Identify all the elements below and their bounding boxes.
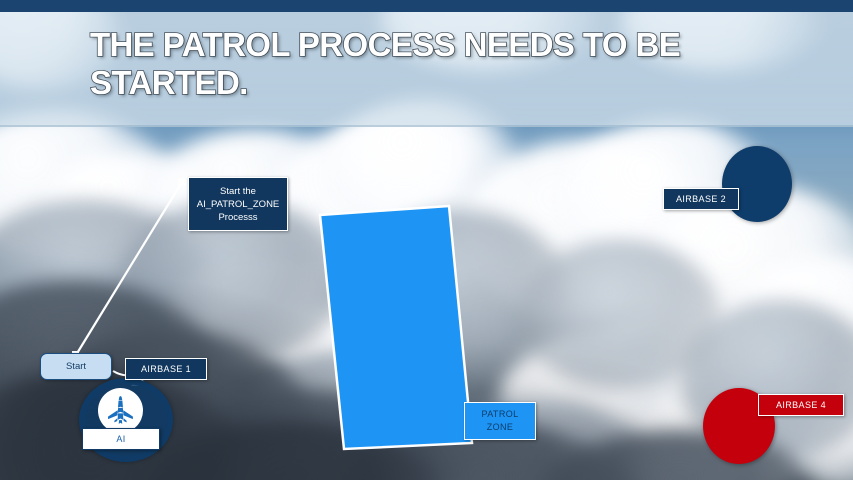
patrol-zone-label[interactable]: PATROL ZONE <box>464 402 536 440</box>
airbase2-circle[interactable] <box>722 146 792 222</box>
process-box-ai-patrol-zone[interactable]: Start the AI_PATROL_ZONE Processs <box>188 177 288 231</box>
fighter-jet-icon <box>98 388 143 433</box>
page-title: THE PATROL PROCESS NEEDS TO BE STARTED. <box>90 26 790 102</box>
airbase4-label[interactable]: AIRBASE 4 <box>758 394 844 416</box>
airbase2-label[interactable]: AIRBASE 2 <box>663 188 739 210</box>
airbase1-label[interactable]: AIRBASE 1 <box>125 358 207 380</box>
top-accent-strip <box>0 0 853 12</box>
start-node[interactable]: Start <box>40 353 112 380</box>
presentation-slide: Start the AI_PATROL_ZONE Processs Start <box>0 0 853 480</box>
ai-unit-label[interactable]: AI <box>82 428 160 450</box>
